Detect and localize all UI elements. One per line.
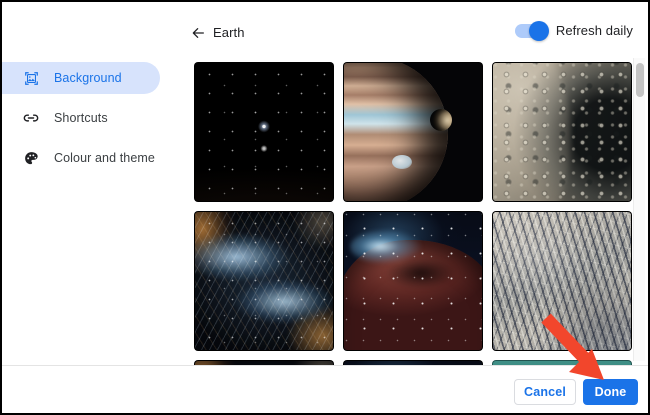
refresh-daily-control: Refresh daily (515, 23, 633, 38)
page-title: Earth (213, 25, 245, 40)
star-field (195, 63, 333, 201)
thumbnail-jupiter-with-moon[interactable] (343, 62, 483, 202)
sidebar-item-label: Shortcuts (54, 111, 108, 125)
refresh-daily-toggle[interactable] (515, 24, 547, 38)
crater-texture (493, 63, 631, 201)
crescent-moon (430, 109, 452, 131)
main-panel: Earth Refresh daily (177, 2, 648, 365)
planet-storm-spot (392, 155, 412, 169)
back-arrow-icon[interactable] (188, 24, 208, 42)
image-icon (22, 69, 40, 87)
sidebar-item-colour-and-theme[interactable]: Colour and theme (2, 142, 160, 174)
thumbnail-earth-horizon-with-star[interactable] (194, 62, 334, 202)
dialog-footer: Cancel Done (2, 365, 648, 414)
sidebar-item-shortcuts[interactable]: Shortcuts (2, 102, 160, 134)
thumbnail-image (195, 63, 333, 201)
grid-scrollbar[interactable] (633, 58, 645, 361)
thumbnail-image (195, 212, 333, 350)
panel-header: Earth Refresh daily (177, 2, 648, 54)
customise-chrome-dialog: Background Shortcuts (0, 0, 650, 415)
thumbnail-image (493, 212, 631, 350)
refresh-daily-label: Refresh daily (556, 23, 633, 38)
star-field (344, 212, 482, 350)
planet-disc (343, 62, 448, 202)
thumbnail-crab-nebula[interactable] (194, 211, 334, 351)
sidebar-item-background[interactable]: Background (2, 62, 160, 94)
thumbnail-cratered-planet-surface[interactable] (492, 62, 632, 202)
thumbnail-grid (177, 54, 648, 365)
thumbnail-eroded-terrain-aerial[interactable] (492, 211, 632, 351)
done-button[interactable]: Done (583, 379, 638, 405)
thumbnail-horsehead-nebula[interactable] (343, 211, 483, 351)
scrollbar-thumb[interactable] (636, 63, 644, 97)
sidebar-item-label: Background (54, 71, 122, 85)
toggle-knob (529, 21, 549, 41)
thumbnail-image (344, 63, 482, 201)
sidebar-item-label: Colour and theme (54, 151, 155, 165)
star-field (195, 212, 333, 350)
sidebar: Background Shortcuts (2, 2, 177, 365)
cancel-button[interactable]: Cancel (514, 379, 576, 405)
palette-icon (22, 149, 40, 167)
terrain-shading (493, 212, 631, 350)
link-icon (22, 109, 40, 127)
thumbnail-image (493, 63, 631, 201)
thumbnail-image (344, 212, 482, 350)
